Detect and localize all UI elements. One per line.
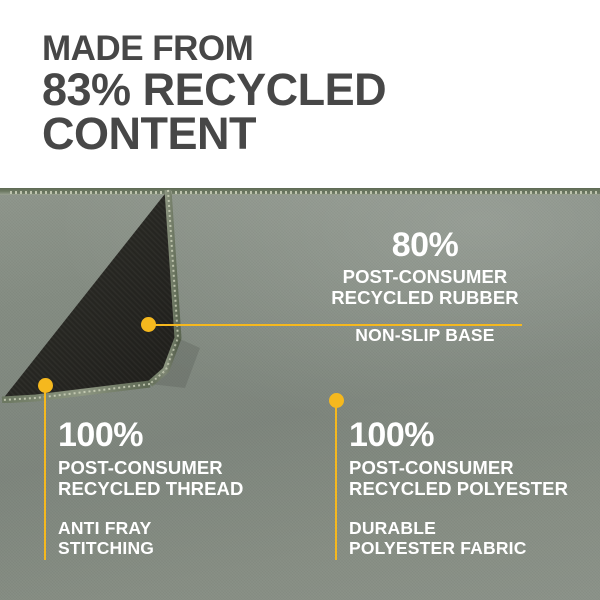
connector-line-thread (44, 392, 46, 560)
callout-recycled-rubber: 80% POST-CONSUMER RECYCLED RUBBER NON-SL… (300, 228, 550, 345)
callout-percent: 80% (300, 228, 550, 262)
callout-subtitle: DURABLE POLYESTER FABRIC (349, 518, 568, 559)
callout-desc-line-1: POST-CONSUMER (58, 457, 243, 478)
headline-line-2: 83% RECYCLED (42, 68, 462, 111)
connector-dot-thread (38, 378, 53, 393)
infographic-canvas: MADE FROM 83% RECYCLED CONTENT 80% POST-… (0, 0, 600, 600)
connector-line-polyester (335, 406, 337, 560)
callout-sub-line-1: NON-SLIP BASE (300, 325, 550, 346)
callout-desc-line-2: RECYCLED POLYESTER (349, 478, 568, 499)
callout-sub-line-1: DURABLE (349, 518, 568, 539)
callout-sub-line-1: ANTI FRAY (58, 518, 243, 539)
callout-desc-line-1: POST-CONSUMER (300, 266, 550, 287)
callout-sub-line-2: POLYESTER FABRIC (349, 538, 568, 559)
callout-recycled-thread: 100% POST-CONSUMER RECYCLED THREAD ANTI … (58, 418, 243, 559)
headline-line-3: CONTENT (42, 112, 462, 155)
connector-dot-polyester (329, 393, 344, 408)
folded-corner (0, 188, 250, 403)
callout-desc-line-2: RECYCLED RUBBER (300, 287, 550, 308)
page-title: MADE FROM 83% RECYCLED CONTENT (42, 32, 462, 155)
callout-percent: 100% (58, 418, 243, 452)
callout-desc-line-1: POST-CONSUMER (349, 457, 568, 478)
callout-subtitle: NON-SLIP BASE (300, 325, 550, 346)
headline-line-1: MADE FROM (42, 32, 462, 66)
callout-desc-line-2: RECYCLED THREAD (58, 478, 243, 499)
callout-sub-line-2: STITCHING (58, 538, 243, 559)
connector-dot-rubber (141, 317, 156, 332)
callout-percent: 100% (349, 418, 568, 452)
callout-subtitle: ANTI FRAY STITCHING (58, 518, 243, 559)
callout-recycled-polyester: 100% POST-CONSUMER RECYCLED POLYESTER DU… (349, 418, 568, 559)
